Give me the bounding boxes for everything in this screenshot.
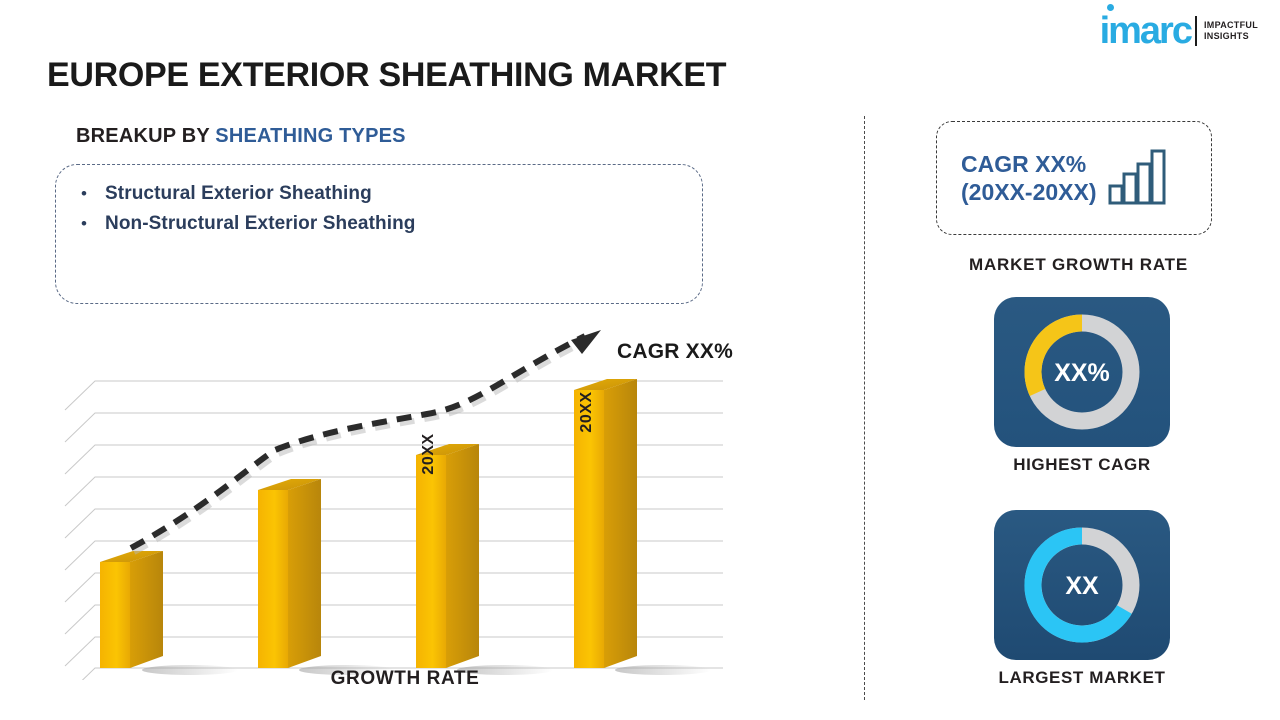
breakup-subtitle: BREAKUP BY SHEATHING TYPES: [76, 125, 406, 148]
sheathing-types-list: • Structural Exterior Sheathing • Non-St…: [78, 179, 416, 239]
chart-svg: [55, 330, 755, 680]
market-growth-rate-box: CAGR XX% (20XX-20XX): [936, 121, 1212, 235]
chart-bar: [258, 479, 321, 668]
page-title: EUROPE EXTERIOR SHEATHING MARKET: [47, 56, 726, 95]
kpi-column: CAGR XX% (20XX-20XX) MARKET GROWTH RATE: [877, 0, 1280, 720]
growth-rate-text: CAGR XX% (20XX-20XX): [961, 150, 1097, 206]
chart-axis-label: GROWTH RATE: [55, 668, 755, 690]
highest-cagr-caption: HIGHEST CAGR: [992, 455, 1172, 475]
list-item: • Non-Structural Exterior Sheathing: [78, 209, 416, 239]
subtitle-highlight: SHEATHING TYPES: [215, 125, 405, 147]
list-item: • Structural Exterior Sheathing: [78, 179, 416, 209]
growth-rate-line1: CAGR XX%: [961, 150, 1097, 178]
growth-rate-line2: (20XX-20XX): [961, 178, 1097, 206]
highest-cagr-value: XX%: [1054, 359, 1110, 387]
chart-trend-arrow: [131, 330, 601, 552]
largest-market-value: XX: [1065, 572, 1099, 600]
bar-value-label: 20XX: [578, 382, 596, 442]
growth-rate-chart: 20XX 20XX CAGR XX% GROWTH RATE: [55, 330, 755, 700]
highest-cagr-donut-icon: XX%: [992, 295, 1172, 450]
largest-market-caption: LARGEST MARKET: [992, 668, 1172, 688]
list-item-label: Non-Structural Exterior Sheathing: [105, 209, 416, 239]
kpi-tile-largest-market: XX LARGEST MARKET: [992, 508, 1172, 668]
section-divider: [864, 116, 865, 700]
bullet-icon: •: [78, 209, 105, 239]
chart-cagr-annotation: CAGR XX%: [617, 340, 733, 364]
sheathing-types-box: • Structural Exterior Sheathing • Non-St…: [55, 164, 703, 304]
bar-value-label: 20XX: [420, 424, 438, 484]
chart-bar: [100, 551, 163, 668]
market-growth-rate-caption: MARKET GROWTH RATE: [877, 255, 1280, 275]
largest-market-donut-icon: XX: [992, 508, 1172, 663]
bar-chart-icon: [1107, 145, 1169, 212]
infographic-page: imarc IMPACTFUL INSIGHTS EUROPE EXTERIOR…: [0, 0, 1280, 720]
subtitle-prefix: BREAKUP BY: [76, 125, 215, 147]
list-item-label: Structural Exterior Sheathing: [105, 179, 372, 209]
kpi-tile-highest-cagr: XX% HIGHEST CAGR: [992, 295, 1172, 455]
bullet-icon: •: [78, 179, 105, 209]
